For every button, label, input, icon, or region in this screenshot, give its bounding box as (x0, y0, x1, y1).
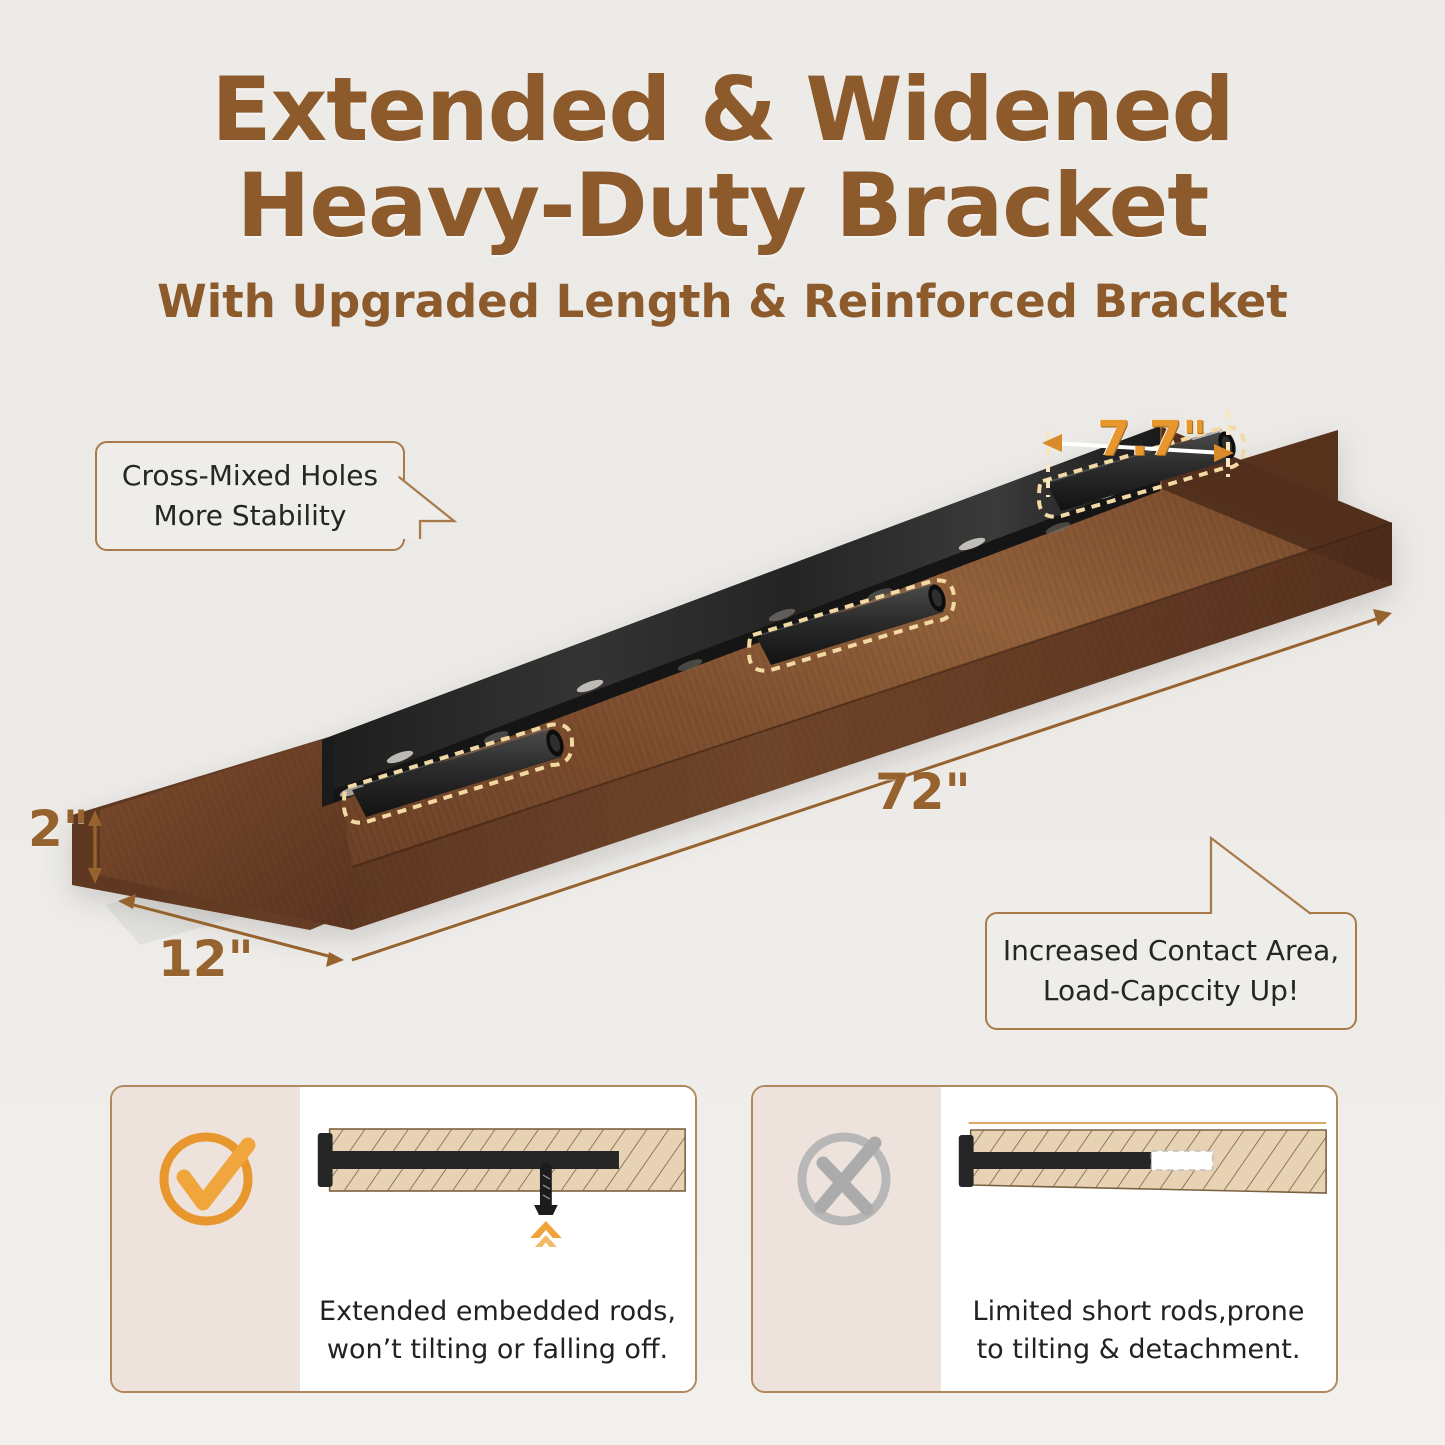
card-ours-caption: Extended embedded rods, won’t tilting or… (300, 1293, 695, 1369)
check-circle-icon (148, 1119, 264, 1235)
ours-load-arrows-icon (530, 1221, 562, 1247)
callout-contact-line1: Increased Contact Area, (1003, 931, 1339, 971)
dimension-label-length: 72" (875, 763, 971, 821)
comparison-cards: ours (110, 1085, 1338, 1393)
header: Extended & Widened Heavy-Duty Bracket Wi… (0, 62, 1445, 328)
card-others-right-panel: Limited short rods,prone to tilting & de… (941, 1087, 1336, 1391)
page-subtitle: With Upgraded Length & Reinforced Bracke… (0, 276, 1445, 328)
callout-contact-line2: Load-Capccity Up! (1043, 971, 1299, 1011)
card-others-left-panel: others (753, 1087, 941, 1391)
ours-rod-shaft (328, 1151, 619, 1169)
card-others-caption-line2: to tilting & detachment. (941, 1331, 1336, 1369)
card-ours-caption-line2: won’t tilting or falling off. (300, 1331, 695, 1369)
infographic-canvas: Extended & Widened Heavy-Duty Bracket Wi… (0, 0, 1445, 1445)
card-ours-left-panel: ours (112, 1087, 300, 1391)
dimension-label-thickness: 2" (28, 800, 89, 858)
callout-holes-line1: Cross-Mixed Holes (122, 456, 378, 496)
page-title-line1: Extended & Widened (0, 62, 1445, 158)
card-ours-caption-line1: Extended embedded rods, (300, 1293, 695, 1331)
others-rod-shaft (969, 1152, 1152, 1169)
comparison-card-ours: ours (110, 1085, 697, 1393)
comparison-card-others: others (751, 1085, 1338, 1393)
others-rod-diagram (941, 1097, 1336, 1247)
page-title-line2: Heavy-Duty Bracket (0, 158, 1445, 254)
callout-contact-tail (1199, 836, 1319, 916)
callout-holes-tail (398, 475, 458, 541)
callout-cross-mixed-holes: Cross-Mixed Holes More Stability (95, 441, 405, 551)
dimension-label-rod: 7.7" (1097, 411, 1207, 467)
callout-holes-line2: More Stability (154, 496, 347, 536)
card-others-caption-line1: Limited short rods,prone (941, 1293, 1336, 1331)
dimension-label-depth: 12" (158, 930, 254, 988)
callout-increased-contact-area: Increased Contact Area, Load-Capccity Up… (985, 912, 1357, 1030)
card-others-caption: Limited short rods,prone to tilting & de… (941, 1293, 1336, 1369)
card-ours-right-panel: Extended embedded rods, won’t tilting or… (300, 1087, 695, 1391)
x-circle-icon (789, 1119, 905, 1235)
ours-rod-diagram (300, 1097, 695, 1247)
others-gap-void (1151, 1151, 1212, 1170)
rail-left-tab (322, 735, 334, 807)
